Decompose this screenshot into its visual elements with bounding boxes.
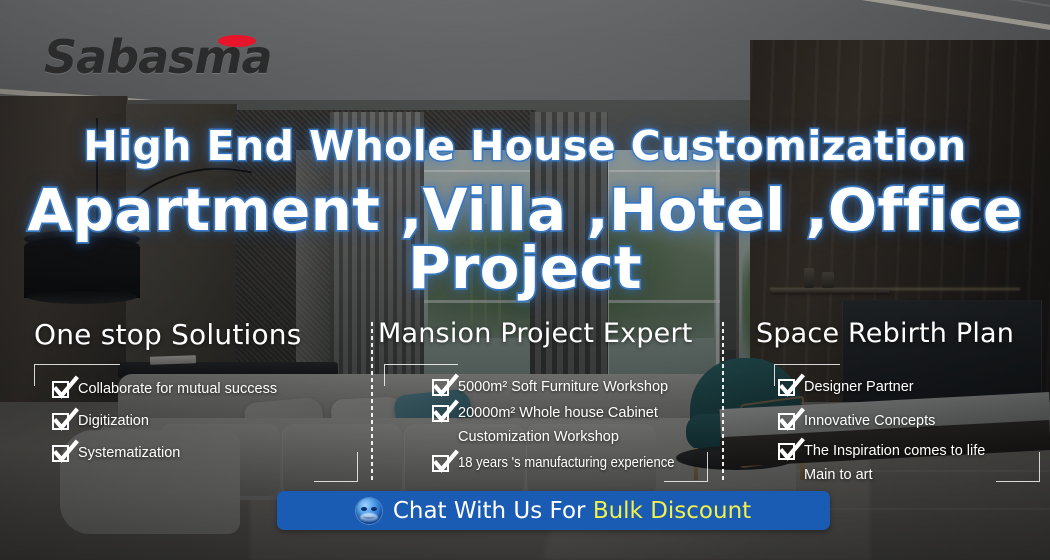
checklist-item-text: 18 years 's manufacturing experience <box>458 454 674 473</box>
checkbox-checked-icon <box>778 413 795 430</box>
checkbox-checked-icon <box>432 405 449 422</box>
checklist-item: 20000m² Whole house Cabinet Customizatio… <box>432 404 658 447</box>
checklist-item-text: The Inspiration comes to life <box>804 442 985 461</box>
cta-label: Chat With Us For Bulk Discount <box>393 498 751 524</box>
chat-cta-button[interactable]: Chat With Us For Bulk Discount <box>277 491 830 530</box>
checkbox-checked-icon <box>52 413 69 430</box>
checkbox-checked-icon <box>778 379 795 396</box>
decorative-corner-bracket <box>996 452 1040 482</box>
checkbox-checked-icon <box>778 443 795 460</box>
checklist-item: Collaborate for mutual success <box>52 380 277 399</box>
feature-column-space-rebirth-plan: Space Rebirth Plan Designer Partner <box>756 318 1046 484</box>
checklist-item-text: Systematization <box>78 444 180 463</box>
checklist-item-text-continued: Customization Workshop <box>458 428 658 447</box>
column-title: Space Rebirth Plan <box>756 318 1046 349</box>
checklist-item-text: Designer Partner <box>804 378 914 397</box>
column-title: One stop Solutions <box>34 318 364 351</box>
checklist-item-text: Digitization <box>78 412 149 431</box>
checklist-item-text: Collaborate for mutual success <box>78 380 277 399</box>
logo-accent-ellipse-icon <box>218 35 256 47</box>
checkbox-checked-icon <box>432 455 449 472</box>
cta-label-accent: Bulk Discount <box>593 498 751 524</box>
checklist-item-text: 20000m² Whole house Cabinet <box>458 404 658 423</box>
checklist-item: The Inspiration comes to life Main to ar… <box>778 442 985 485</box>
feature-column-mansion-project-expert: Mansion Project Expert 5000m² Soft Furni… <box>378 318 714 484</box>
checklist-item-text-continued: Main to art <box>804 466 985 485</box>
decorative-corner-bracket <box>664 452 708 482</box>
checklist-item: Designer Partner <box>778 378 914 397</box>
checkbox-checked-icon <box>52 445 69 462</box>
smiley-face-icon <box>356 498 382 524</box>
checklist-item: 18 years 's manufacturing experience <box>432 454 699 473</box>
checklist-item: Innovative Concepts <box>778 412 935 431</box>
decorative-corner-bracket <box>314 452 358 482</box>
checklist-item-text: 5000m² Soft Furniture Workshop <box>458 378 668 397</box>
checklist-item: Digitization <box>52 412 149 431</box>
headline-line-2: Apartment ,Villa ,Hotel ,Office Project <box>0 181 1050 297</box>
checklist-item-text: Innovative Concepts <box>804 412 935 431</box>
cta-label-main: Chat With Us For <box>393 498 593 524</box>
checklist-item: Systematization <box>52 444 180 463</box>
checkbox-checked-icon <box>432 379 449 396</box>
headline-line-1: High End Whole House Customization <box>0 126 1050 167</box>
feature-column-one-stop-solutions: One stop Solutions Collaborate for mutua… <box>34 318 364 484</box>
promo-banner: Sabasma High End Whole House Customizati… <box>0 0 1050 560</box>
headline: High End Whole House Customization Apart… <box>0 126 1050 297</box>
checklist-item: 5000m² Soft Furniture Workshop <box>432 378 668 397</box>
checkbox-checked-icon <box>52 381 69 398</box>
column-title: Mansion Project Expert <box>378 318 714 349</box>
feature-columns: One stop Solutions Collaborate for mutua… <box>0 318 1050 484</box>
